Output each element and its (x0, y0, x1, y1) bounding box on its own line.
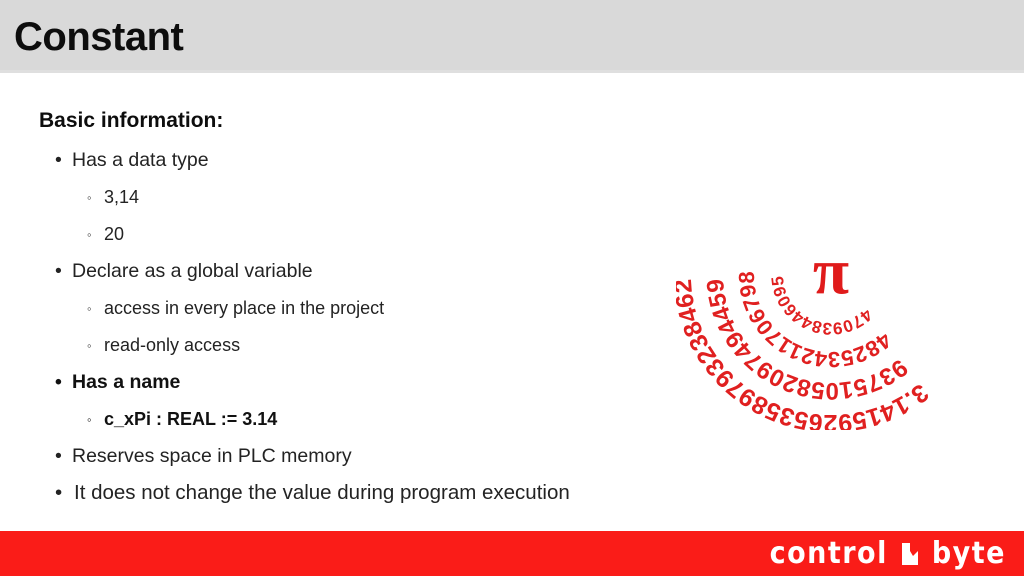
brand-word-byte: byte (932, 539, 1006, 569)
brand-logo: control byte (770, 539, 1006, 569)
bullet-item: •Declare as a global variable (0, 256, 640, 293)
footer-bar: control byte (0, 531, 1024, 576)
bullet-label: Has a name (72, 371, 180, 393)
bullet-item: ◦read-only access (0, 330, 640, 367)
bullet-circle-icon: ◦ (87, 405, 92, 435)
bullet-item: •It does not change the value during pro… (0, 478, 640, 515)
pi-spiral-graphic: 3.14159265358979323846264338327950288419… (676, 120, 986, 430)
bullet-label: 3,14 (104, 187, 139, 207)
brand-word-control: control (770, 539, 888, 569)
bullet-dot-icon: • (55, 145, 62, 175)
bullet-label: Reserves space in PLC memory (72, 445, 352, 467)
bullet-item: ◦access in every place in the project (0, 293, 640, 330)
byte-b-shape (900, 541, 920, 567)
bullet-item: ◦3,14 (0, 182, 640, 219)
bullet-item: ◦c_xPi : REAL := 3.14 (0, 404, 640, 441)
bullet-dot-icon: • (55, 441, 62, 471)
slide-content: Basic information: •Has a data type◦3,14… (0, 73, 660, 531)
bullet-label: read-only access (104, 335, 240, 355)
section-heading: Basic information: (39, 109, 223, 133)
bullet-circle-icon: ◦ (87, 294, 92, 324)
bullet-label: c_xPi : REAL := 3.14 (104, 409, 277, 429)
bullet-item: ◦20 (0, 219, 640, 256)
bullet-list: •Has a data type◦3,14◦20•Declare as a gl… (0, 145, 640, 515)
bullet-label: Declare as a global variable (72, 260, 313, 282)
bullet-label: Has a data type (72, 149, 209, 171)
bullet-item: •Has a name (0, 367, 640, 404)
bullet-circle-icon: ◦ (87, 331, 92, 361)
bullet-circle-icon: ◦ (87, 183, 92, 213)
byte-b-mark-icon (900, 541, 920, 567)
page-title: Constant (14, 14, 183, 60)
bullet-item: •Has a data type (0, 145, 640, 182)
bullet-item: •Reserves space in PLC memory (0, 441, 640, 478)
bullet-dot-icon: • (55, 367, 62, 397)
bullet-circle-icon: ◦ (87, 220, 92, 250)
pi-symbol: π (813, 239, 849, 305)
bullet-label: 20 (104, 224, 124, 244)
bullet-dot-icon: • (55, 478, 62, 508)
bullet-label: access in every place in the project (104, 298, 384, 318)
slide-header-bar: Constant (0, 0, 1024, 73)
bullet-dot-icon: • (55, 256, 62, 286)
bullet-label: It does not change the value during prog… (74, 481, 570, 504)
